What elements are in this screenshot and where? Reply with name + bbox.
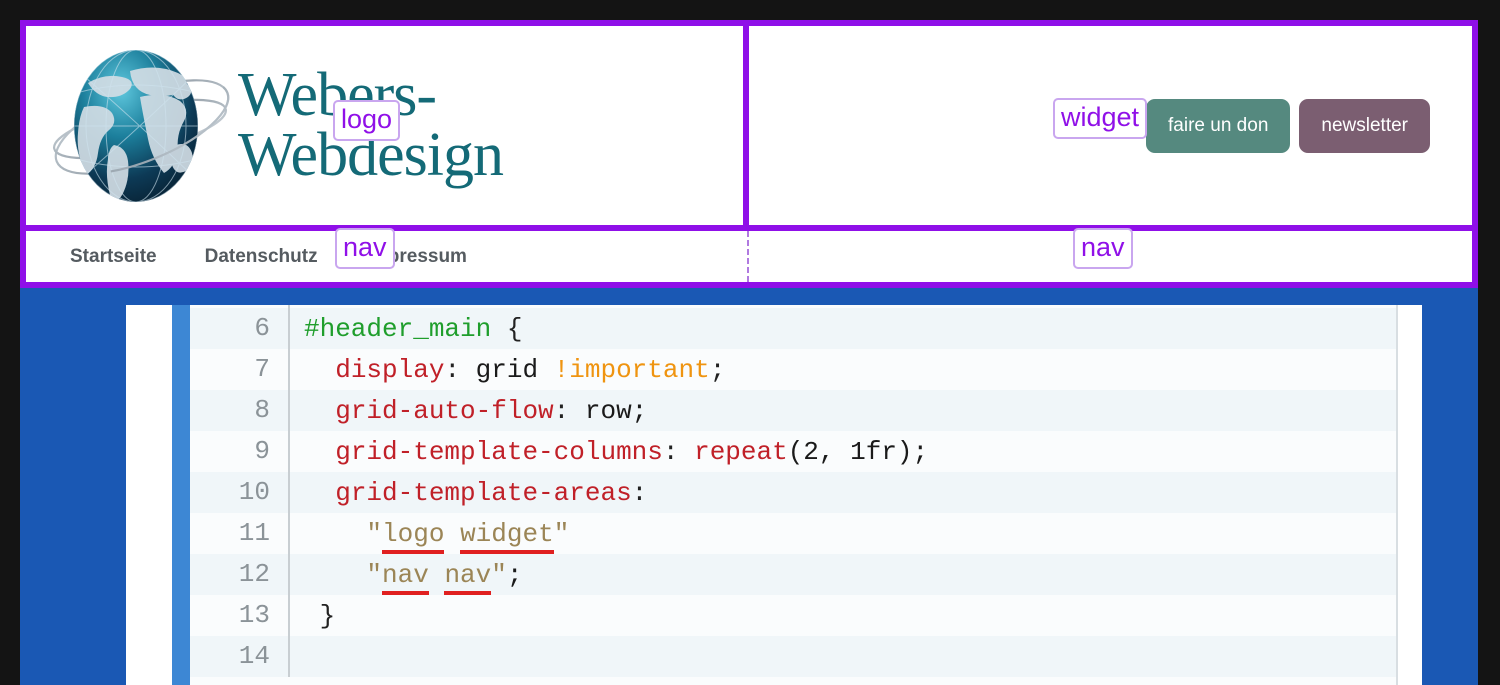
area-name-nav-2: nav [444, 560, 491, 595]
css-value: grid [460, 355, 554, 385]
code-line: 7 display: grid !important; [190, 349, 1396, 390]
code-line: 8 grid-auto-flow: row; [190, 390, 1396, 431]
newsletter-button[interactable]: newsletter [1299, 99, 1430, 153]
code-quote: " [491, 560, 507, 590]
area-name-widget: widget [460, 519, 554, 554]
screenshot-root: Webers- Webdesign faire un don newslette… [0, 0, 1500, 685]
code-content: "nav nav"; [290, 560, 522, 590]
code-punct: : [632, 478, 648, 508]
grid-area-badge-widget: widget [1053, 98, 1147, 139]
code-quote: " [366, 519, 382, 549]
line-number: 11 [190, 513, 290, 554]
css-value: row; [569, 396, 647, 426]
code-punct: ; [507, 560, 523, 590]
site-logo[interactable]: Webers- Webdesign [26, 41, 503, 211]
line-number: 8 [190, 390, 290, 431]
line-number: 9 [190, 431, 290, 472]
donate-button[interactable]: faire un don [1146, 99, 1290, 153]
code-space [444, 519, 460, 549]
grid-area-badge-nav-left: nav [335, 228, 395, 269]
editor-accent-bar [172, 305, 190, 685]
code-line: 14 [190, 636, 1396, 677]
code-content: #header_main { [290, 314, 522, 344]
grid-area-badge-nav-right: nav [1073, 228, 1133, 269]
code-line: 6 #header_main { [190, 308, 1396, 349]
code-editor-panel[interactable]: 5 6 #header_main { 7 display: grid !impo… [126, 305, 1422, 685]
globe-icon [44, 41, 244, 211]
nav-item-datenschutz[interactable]: Datenschutz [205, 246, 318, 268]
line-number: 6 [190, 308, 290, 349]
code-line: 12 "nav nav"; [190, 554, 1396, 595]
nav-item-startseite[interactable]: Startseite [70, 246, 157, 268]
editor-body[interactable]: 5 6 #header_main { 7 display: grid !impo… [190, 305, 1398, 685]
css-function: repeat [678, 437, 787, 467]
code-content: } [290, 601, 335, 631]
code-content: "logo widget" [290, 519, 569, 549]
css-function-args: (2, 1fr); [788, 437, 928, 467]
css-selector: #header_main [304, 314, 491, 344]
line-number: 13 [190, 595, 290, 636]
area-name-logo: logo [382, 519, 444, 554]
line-number: 7 [190, 349, 290, 390]
css-property: grid-template-columns [335, 437, 663, 467]
code-punct: : [554, 396, 570, 426]
code-content: grid-template-areas: [290, 478, 647, 508]
header-main-grid: Webers- Webdesign faire un don newslette… [20, 20, 1478, 288]
css-important: !important [554, 355, 710, 385]
code-quote: " [366, 560, 382, 590]
code-content: grid-template-columns: repeat(2, 1fr); [290, 437, 928, 467]
code-punct: : [663, 437, 679, 467]
line-number: 14 [190, 636, 290, 677]
code-content: display: grid !important; [290, 355, 725, 385]
code-content: grid-auto-flow: row; [290, 396, 647, 426]
area-name-nav-1: nav [382, 560, 429, 595]
css-property: grid-auto-flow [335, 396, 553, 426]
code-space [429, 560, 445, 590]
css-property: display [335, 355, 444, 385]
grid-area-nav: Startseite Datenschutz Impressum [26, 231, 1472, 282]
css-property: grid-template-areas [335, 478, 631, 508]
code-line: 10 grid-template-areas: [190, 472, 1396, 513]
line-number: 10 [190, 472, 290, 513]
line-number: 12 [190, 554, 290, 595]
code-punct: } [320, 601, 336, 631]
code-quote: " [554, 519, 570, 549]
grid-area-badge-logo: logo [333, 100, 400, 141]
code-line: 9 grid-template-columns: repeat(2, 1fr); [190, 431, 1396, 472]
code-punct: : [444, 355, 460, 385]
code-line: 11 "logo widget" [190, 513, 1396, 554]
code-punct: ; [710, 355, 726, 385]
code-line: 13 } [190, 595, 1396, 636]
code-punct: { [491, 314, 522, 344]
